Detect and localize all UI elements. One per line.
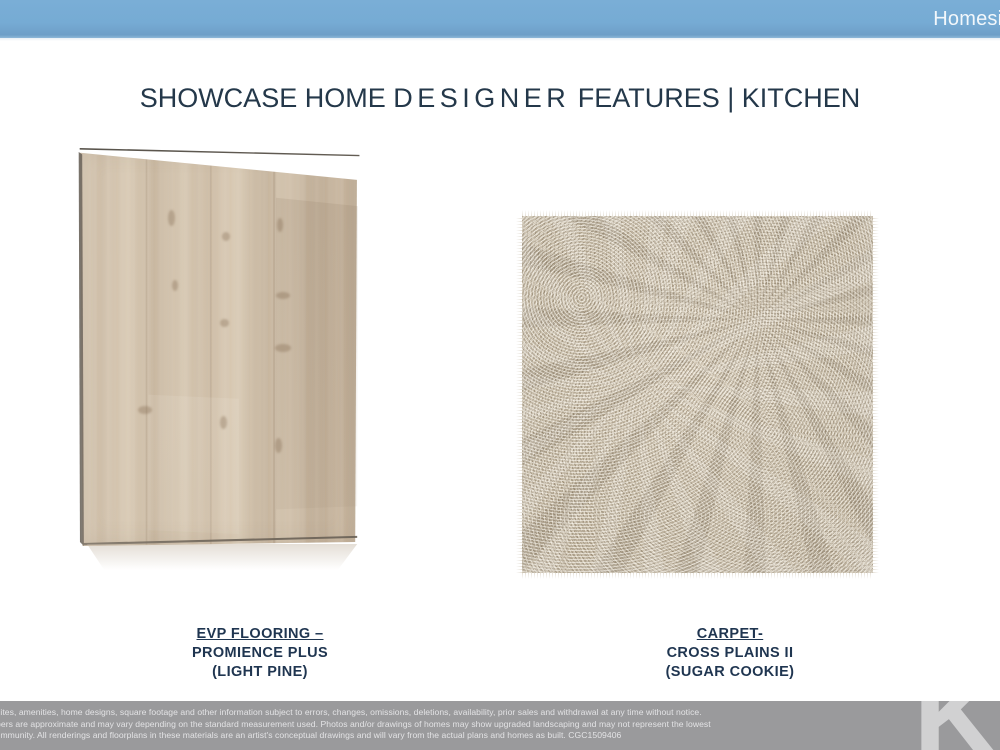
wood-panel-reflection xyxy=(82,544,360,570)
footer-disclaimer-bar: K mesites, amenities, home designs, squa… xyxy=(0,701,1000,750)
wood-knot-icon xyxy=(138,406,152,414)
carpet-caption-line-2: CROSS PLAINS II xyxy=(600,644,860,663)
evp-flooring-swatch[interactable] xyxy=(72,144,372,564)
carpet-caption-line-3: (SUGAR COOKIE) xyxy=(600,663,860,682)
wood-knot-icon xyxy=(222,232,230,241)
slide-canvas: SHOWCASE HOME DESIGNER FEATURES | KITCHE… xyxy=(0,41,1000,701)
footer-line-2: umbers are approximate and may vary depe… xyxy=(0,719,974,731)
wood-knot-icon xyxy=(168,210,175,226)
page-title-part-2: DESIGNER xyxy=(393,83,570,113)
evp-caption-line-2: PROMIENCE PLUS xyxy=(140,644,380,663)
wood-knot-icon xyxy=(276,292,290,299)
page-title: SHOWCASE HOME DESIGNER FEATURES | KITCHE… xyxy=(0,83,1000,114)
page-title-part-1: SHOWCASE HOME xyxy=(140,83,394,113)
carpet-texture xyxy=(522,216,873,573)
wood-knot-icon xyxy=(220,319,229,327)
header-title: Homesit xyxy=(933,8,1000,31)
wood-knot-icon xyxy=(220,416,227,429)
carpet-caption: CARPET- CROSS PLAINS II (SUGAR COOKIE) xyxy=(600,625,860,682)
wood-knot-icon xyxy=(277,218,283,232)
footer-line-3: e community. All renderings and floorpla… xyxy=(0,730,974,742)
footer-line-1: mesites, amenities, home designs, square… xyxy=(0,707,974,719)
footer-disclaimer-text: mesites, amenities, home designs, square… xyxy=(0,707,974,742)
wood-knot-icon xyxy=(275,344,291,352)
carpet-caption-line-1: CARPET- xyxy=(600,625,860,644)
wood-knot-icon xyxy=(275,438,282,453)
evp-flooring-caption: EVP FLOORING – PROMIENCE PLUS (LIGHT PIN… xyxy=(140,625,380,682)
evp-caption-line-1: EVP FLOORING – xyxy=(140,625,380,644)
carpet-swatch[interactable] xyxy=(515,169,883,581)
header-bar: Homesit xyxy=(0,0,1000,38)
evp-caption-line-3: (LIGHT PINE) xyxy=(140,663,380,682)
wood-knot-icon xyxy=(172,280,178,291)
page-title-part-3: FEATURES | KITCHEN xyxy=(570,83,860,113)
